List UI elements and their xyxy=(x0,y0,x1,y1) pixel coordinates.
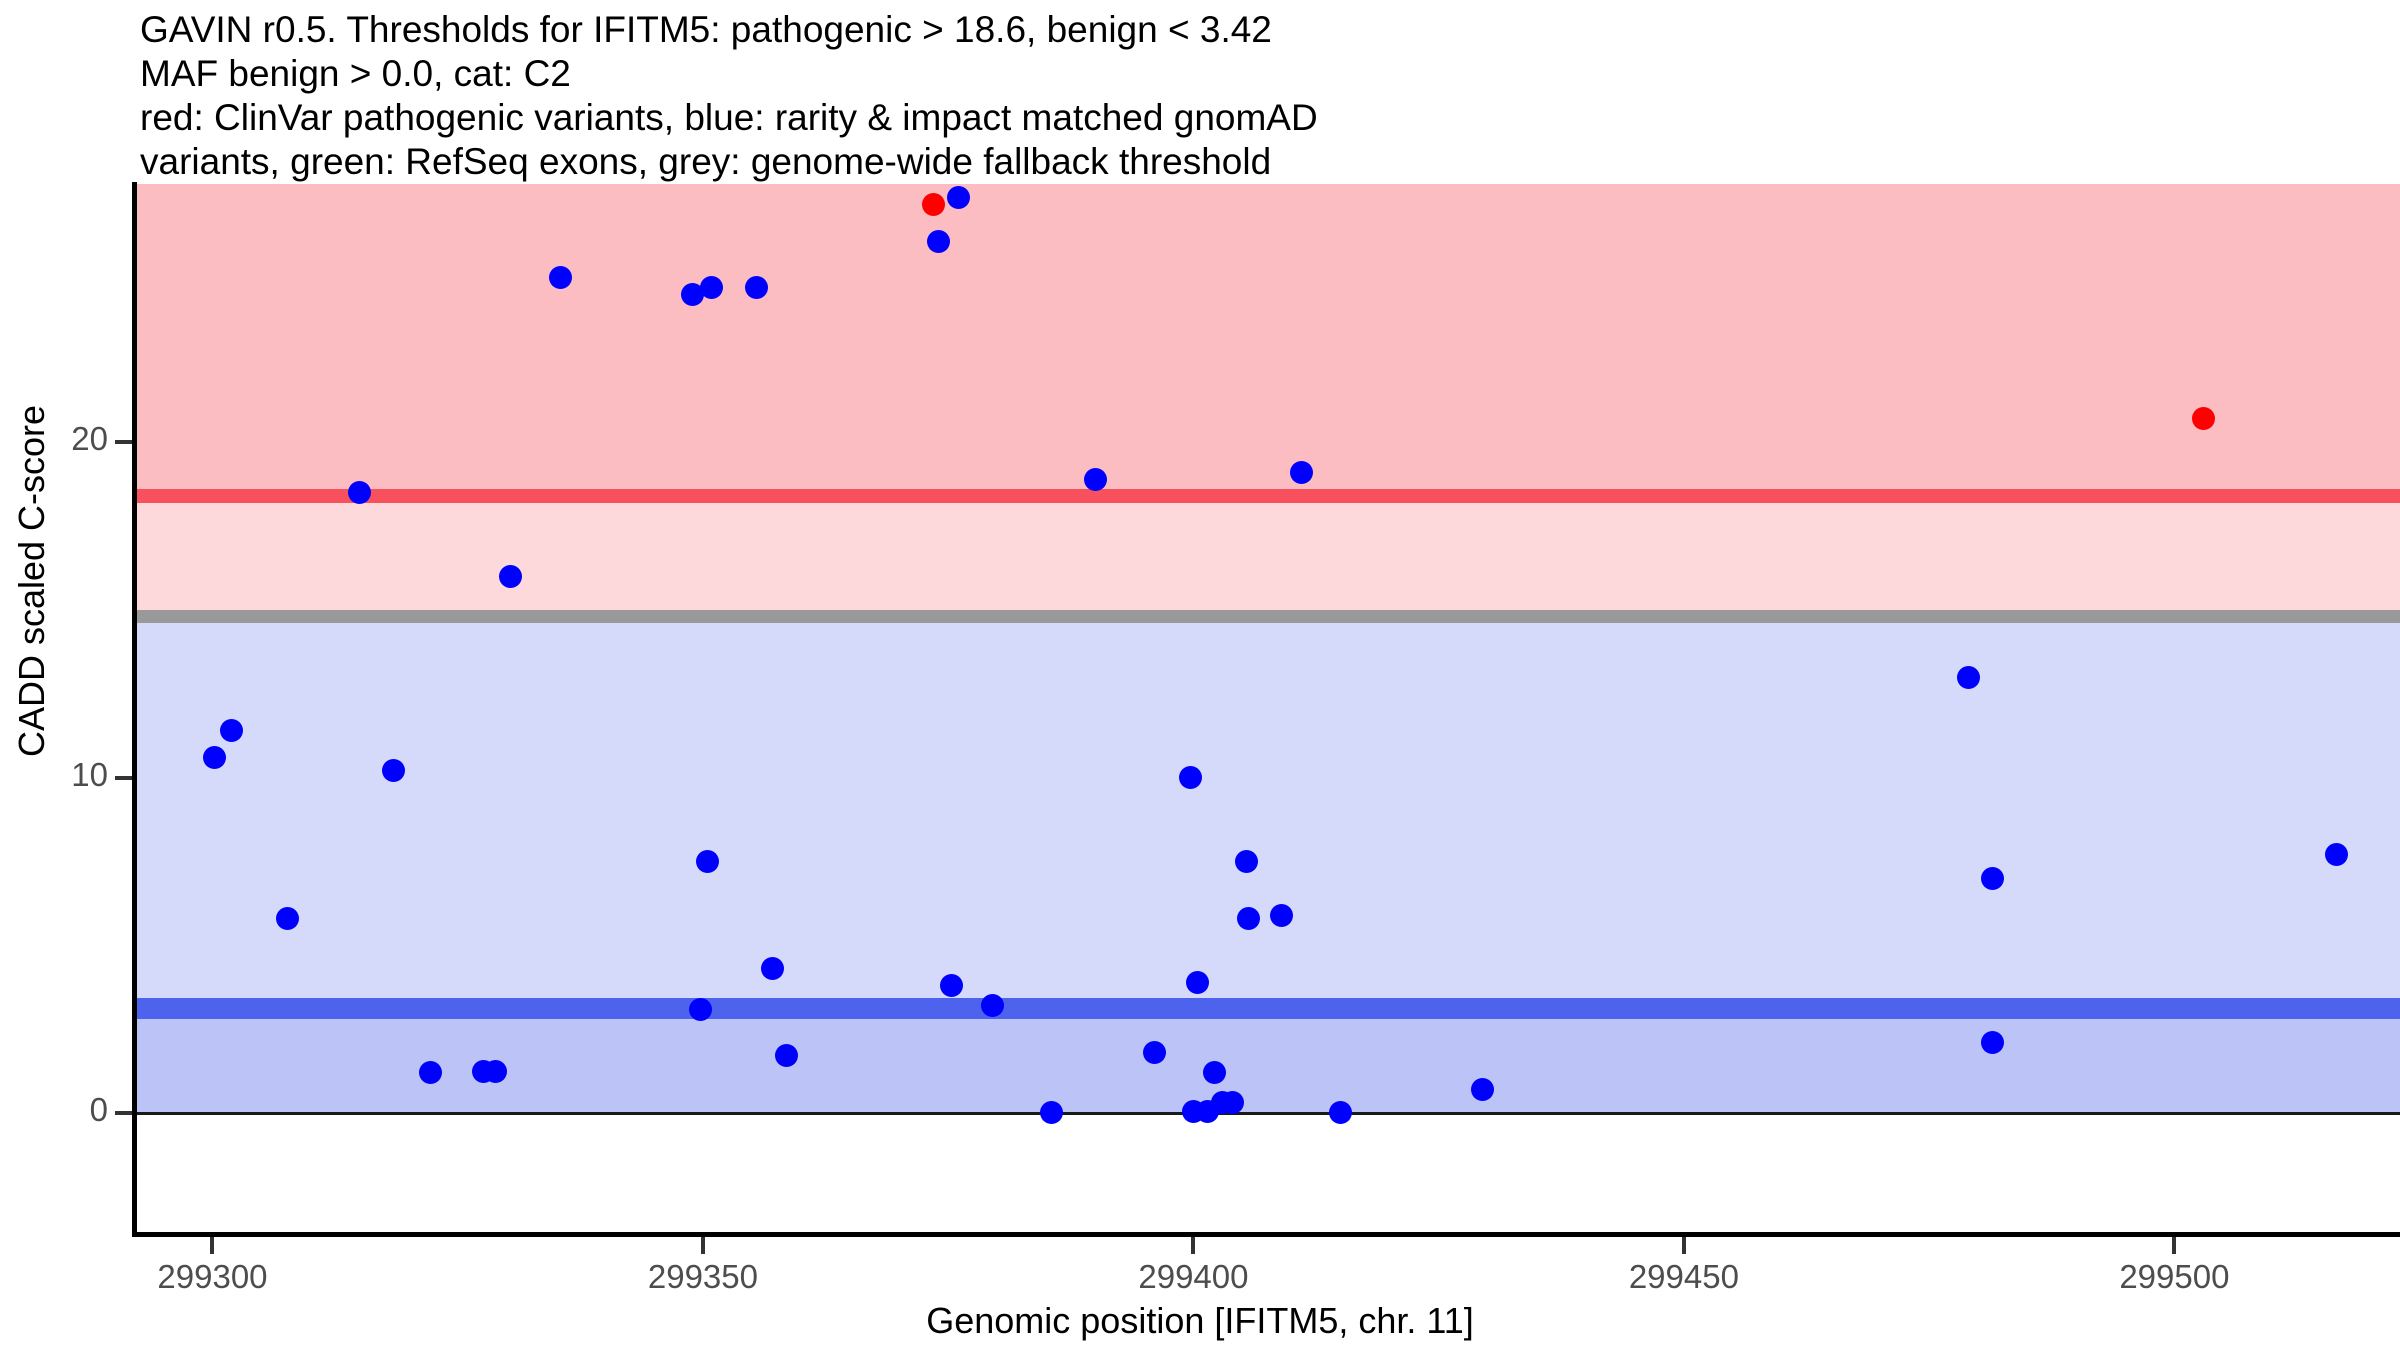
gnomad-point xyxy=(1179,766,1202,789)
gnomad-point xyxy=(2325,843,2348,866)
y-tick-mark xyxy=(115,776,132,780)
x-tick-mark xyxy=(2172,1237,2176,1254)
chart-title-block: GAVIN r0.5. Thresholds for IFITM5: patho… xyxy=(140,8,2340,184)
x-axis-line xyxy=(132,1232,2400,1237)
title-line-3: red: ClinVar pathogenic variants, blue: … xyxy=(140,96,2340,140)
title-line-1: GAVIN r0.5. Thresholds for IFITM5: patho… xyxy=(140,8,2340,52)
x-tick-mark xyxy=(210,1237,214,1254)
gnomad-point xyxy=(1270,904,1293,927)
band-ambiguous-zone xyxy=(134,503,2400,610)
zero-baseline xyxy=(134,1112,2400,1115)
y-axis-lower-extension xyxy=(132,1170,137,1237)
gnomad-point xyxy=(499,565,522,588)
gnomad-point xyxy=(419,1061,442,1084)
gnomad-point xyxy=(981,994,1004,1017)
x-tick-mark xyxy=(1191,1237,1195,1254)
title-line-2: MAF benign > 0.0, cat: C2 xyxy=(140,52,2340,96)
gnomad-point xyxy=(1186,971,1209,994)
gnomad-point xyxy=(1235,850,1258,873)
band-pathogenic-zone xyxy=(134,184,2400,489)
gnomad-point xyxy=(276,907,299,930)
gnomad-point xyxy=(947,186,970,209)
x-tick-label: 299500 xyxy=(2119,1258,2229,1296)
gnomad-point xyxy=(940,974,963,997)
band-benign-threshold-line xyxy=(134,998,2400,1019)
x-tick-label: 299300 xyxy=(157,1258,267,1296)
x-tick-label: 299350 xyxy=(648,1258,758,1296)
x-tick-label: 299400 xyxy=(1138,1258,1248,1296)
gnomad-point xyxy=(1040,1101,1063,1124)
band-fallback-threshold-line xyxy=(134,610,2400,623)
gnomad-point xyxy=(484,1060,507,1083)
gnomad-point xyxy=(203,746,226,769)
gnomad-point xyxy=(689,998,712,1021)
gnomad-point xyxy=(1084,468,1107,491)
chart-root: GAVIN r0.5. Thresholds for IFITM5: patho… xyxy=(0,0,2400,1350)
gnomad-point xyxy=(1329,1101,1352,1124)
y-axis-line xyxy=(132,182,137,1172)
band-benign-upper-zone xyxy=(134,623,2400,998)
y-axis-title: CADD scaled C-score xyxy=(11,231,53,931)
gnomad-point xyxy=(927,230,950,253)
gnomad-point xyxy=(1143,1041,1166,1064)
y-tick-mark xyxy=(115,440,132,444)
x-tick-mark xyxy=(1682,1237,1686,1254)
gnomad-point xyxy=(1957,666,1980,689)
x-tick-mark xyxy=(701,1237,705,1254)
plot-area xyxy=(134,184,2400,1170)
gnomad-point xyxy=(1237,907,1260,930)
gnomad-point xyxy=(1290,461,1313,484)
y-tick-label: 20 xyxy=(71,420,108,458)
band-pathogenic-threshold-line xyxy=(134,489,2400,502)
x-tick-label: 299450 xyxy=(1629,1258,1739,1296)
y-tick-mark xyxy=(115,1111,132,1115)
gnomad-point xyxy=(348,481,371,504)
title-line-4: variants, green: RefSeq exons, grey: gen… xyxy=(140,140,2340,184)
gnomad-point xyxy=(1203,1061,1226,1084)
gnomad-point xyxy=(220,719,243,742)
gnomad-point xyxy=(1981,867,2004,890)
x-axis-title: Genomic position [IFITM5, chr. 11] xyxy=(0,1300,2400,1342)
y-tick-label: 0 xyxy=(90,1091,108,1129)
y-tick-label: 10 xyxy=(71,756,108,794)
pathogenic-point xyxy=(922,193,945,216)
